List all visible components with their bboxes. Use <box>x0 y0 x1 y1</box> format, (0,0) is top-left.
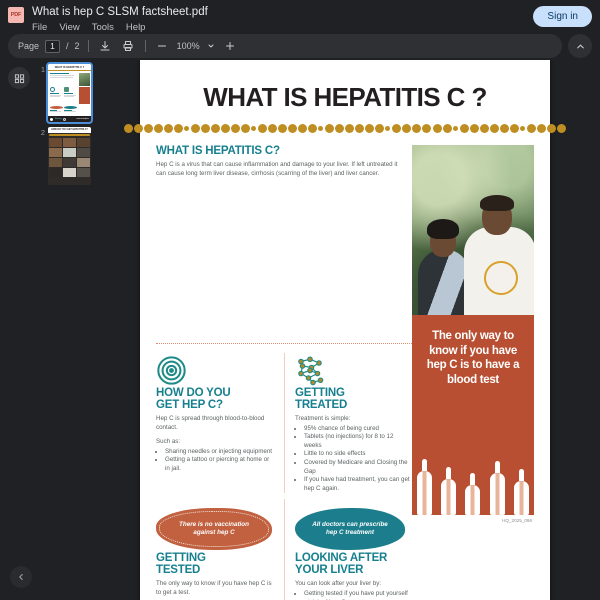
thumbnail-list: 1 WHAT IS HEPATITIS C ? <box>36 64 91 190</box>
pdf-toolbar: Page / 2 100% <box>8 34 562 58</box>
toolbar-divider-1 <box>88 40 89 52</box>
right-rail-poster: The only way to know if you have hep C i… <box>412 315 534 600</box>
badge-all-doctors-prescribe: All doctors can prescribe hep C treatmen… <box>295 508 405 550</box>
intro-paragraph: Hep C is a virus that can cause inflamma… <box>156 161 404 178</box>
thumbnail-sidebar: 1 WHAT IS HEPATITIS C ? <box>0 60 104 600</box>
pdf-page-viewport[interactable]: WHAT IS HEPATITIS C ? WHAT IS HEPATITIS … <box>104 60 600 600</box>
photo-shirt-logo <box>484 261 518 295</box>
total-pages: 2 <box>75 41 80 51</box>
section-heading-line1: GETTING <box>156 552 274 564</box>
badge-no-vaccination-wrap: There is no vaccination against hep C <box>156 506 274 552</box>
bottle-shape <box>490 473 505 515</box>
zoom-out-icon[interactable] <box>154 38 171 55</box>
pdf-viewer-window: PDF What is hep C SLSM factsheet.pdf Fil… <box>0 0 600 600</box>
section-getting-tested: There is no vaccination against hep C GE… <box>156 499 284 600</box>
bottle-shape <box>465 485 480 515</box>
target-icon <box>156 353 274 387</box>
toolbar-row: Page / 2 100% <box>0 32 600 60</box>
page-number-input[interactable] <box>45 40 60 53</box>
section-lead: Such as: <box>156 438 274 447</box>
section-lead: Treatment is simple: <box>295 415 412 424</box>
section-heading-line2: TREATED <box>295 399 412 411</box>
section-heading-line1: HOW DO YOU <box>156 387 274 399</box>
zoom-in-icon[interactable] <box>222 38 239 55</box>
pdf-file-icon: PDF <box>8 7 24 23</box>
toolbar-divider-2 <box>145 40 146 52</box>
section-bullets: Sharing needles or injecting equipment G… <box>165 448 274 474</box>
section-heading-line2: GET HEP C? <box>156 399 274 411</box>
viewer-body: 1 WHAT IS HEPATITIS C ? <box>0 60 600 600</box>
section-getting-treated: GETTING TREATED Treatment is simple: 95%… <box>284 353 412 493</box>
page-title: WHAT IS HEPATITIS C ? <box>140 60 550 123</box>
section-bullets: Getting tested if you have put yourself … <box>304 590 412 600</box>
print-icon[interactable] <box>120 38 137 55</box>
photo-person-left-hair <box>427 219 459 239</box>
intro-heading: WHAT IS HEPATITIS C? <box>156 145 404 157</box>
menu-view[interactable]: View <box>59 22 79 34</box>
intro-section: WHAT IS HEPATITIS C? Hep C is a virus th… <box>156 145 534 335</box>
poster-blood-test: The only way to know if you have hep C i… <box>412 315 534 515</box>
section-heading-line2: YOUR LIVER <box>295 564 412 576</box>
intro-text-block: WHAT IS HEPATITIS C? Hep C is a virus th… <box>156 145 404 335</box>
badge-no-vaccination: There is no vaccination against hep C <box>156 508 272 550</box>
content-row-2: There is no vaccination against hep C GE… <box>156 499 534 600</box>
sign-in-button[interactable]: Sign in <box>533 6 592 27</box>
section-how-do-you-get-hep-c: HOW DO YOU GET HEP C? Hep C is spread th… <box>156 353 284 493</box>
page-separator: / <box>66 41 69 51</box>
document-code: HQ_2025_096 <box>412 518 534 523</box>
zoom-level-value[interactable]: 100% <box>177 41 200 51</box>
list-item: Covered by Medicare and Closing the Gap <box>304 459 412 476</box>
thumbnail-item-2[interactable]: 2 HOW DO YOU GET HEPATITIS C? <box>36 127 91 185</box>
chevron-up-icon[interactable] <box>568 34 592 58</box>
thumbnail-number: 2 <box>36 128 45 137</box>
window-header: PDF What is hep C SLSM factsheet.pdf Fil… <box>0 0 600 32</box>
section-heading-line1: LOOKING AFTER <box>295 552 412 564</box>
thumbnail-page-1[interactable]: WHAT IS HEPATITIS C ? <box>48 64 91 122</box>
bottle-shape <box>514 481 529 515</box>
section-heading-line1: GETTING <box>295 387 412 399</box>
list-item: Little to no side effects <box>304 450 412 459</box>
poster-bottles-graphic <box>412 461 534 515</box>
section-heading-line2: TESTED <box>156 564 274 576</box>
document-title: What is hep C SLSM factsheet.pdf <box>32 5 533 19</box>
bottle-shape <box>417 471 432 515</box>
pdf-page-1: WHAT IS HEPATITIS C ? WHAT IS HEPATITIS … <box>140 60 550 600</box>
title-and-menus: What is hep C SLSM factsheet.pdf File Vi… <box>32 5 533 34</box>
photo-two-people-smiling <box>412 145 534 335</box>
list-item: Sharing needles or injecting equipment <box>165 448 274 457</box>
molecule-icon <box>295 353 412 387</box>
menu-file[interactable]: File <box>32 22 47 34</box>
photo-person-right <box>464 183 534 335</box>
thumbnail-item-1[interactable]: 1 WHAT IS HEPATITIS C ? <box>36 64 91 122</box>
menu-tools[interactable]: Tools <box>92 22 114 34</box>
section-bullets: 95% chance of being cured Tablets (no in… <box>304 425 412 494</box>
list-item: Getting tested if you have put yourself … <box>304 590 412 600</box>
thumbnail-page-2[interactable]: HOW DO YOU GET HEPATITIS C? <box>48 127 91 185</box>
thumbnail-number: 1 <box>36 65 45 74</box>
decorative-dot-band <box>124 123 566 134</box>
chevron-down-icon[interactable] <box>206 38 216 55</box>
thumbnail-view-icon[interactable] <box>8 67 30 89</box>
menu-help[interactable]: Help <box>126 22 146 34</box>
page-label: Page <box>18 41 39 51</box>
badge-all-doctors-wrap: All doctors can prescribe hep C treatmen… <box>295 506 412 552</box>
download-icon[interactable] <box>97 38 114 55</box>
section-paragraph: Hep C is spread through blood-to-blood c… <box>156 415 274 432</box>
list-item: If you have had treatment, you can get h… <box>304 476 412 493</box>
list-item: Tablets (no injections) for 8 to 12 week… <box>304 433 412 450</box>
list-item: 95% chance of being cured <box>304 425 412 434</box>
section-lead: You can look after your liver by: <box>295 580 412 589</box>
poster-text: The only way to know if you have hep C i… <box>412 315 534 387</box>
list-item: Getting a tattoo or piercing at home or … <box>165 456 274 473</box>
menu-bar: File View Tools Help <box>32 22 533 34</box>
page-content: WHAT IS HEPATITIS C? Hep C is a virus th… <box>140 145 550 600</box>
bottle-shape <box>441 479 456 515</box>
section-paragraph: The only way to know if you have hep C i… <box>156 580 274 597</box>
photo-person-right-hair <box>480 195 514 211</box>
section-looking-after-your-liver: All doctors can prescribe hep C treatmen… <box>284 499 412 600</box>
chevron-left-icon[interactable] <box>10 566 32 588</box>
